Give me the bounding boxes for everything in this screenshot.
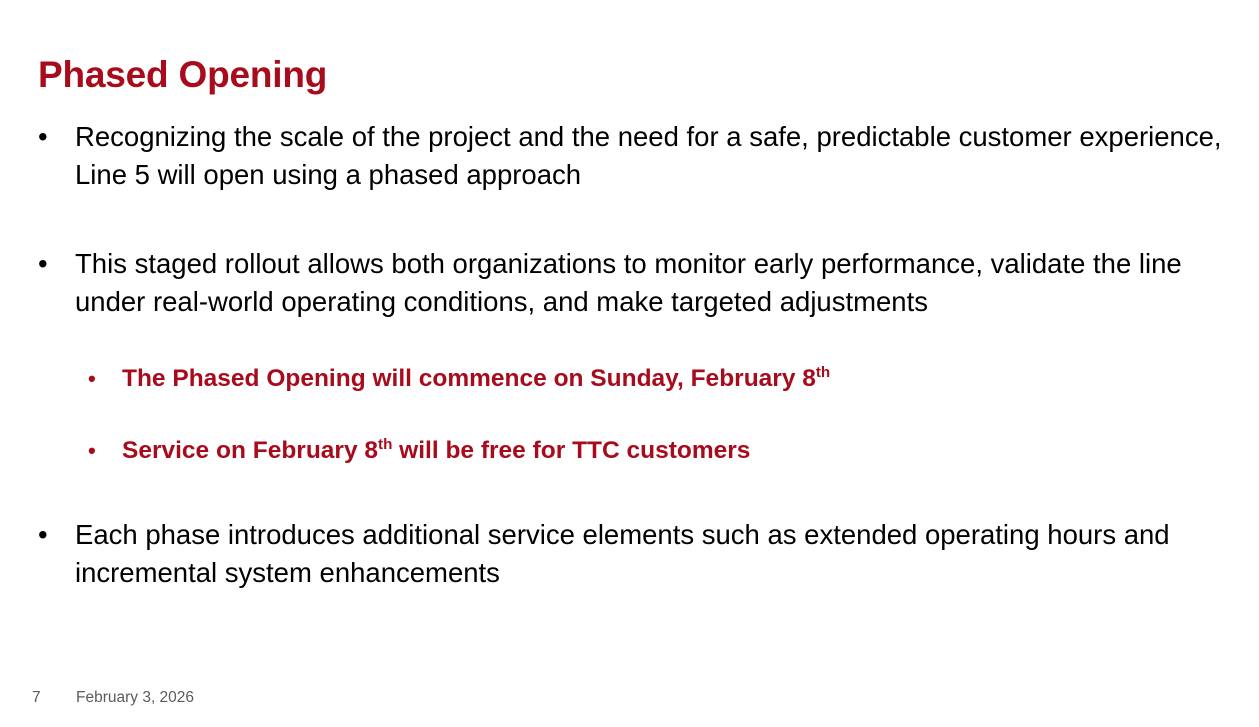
spacer <box>0 468 1259 516</box>
list-item-text-tail: will be free for TTC customers <box>392 437 750 464</box>
list-item-text: Recognizing the scale of the project and… <box>75 121 1222 190</box>
list-item: • This staged rollout allows both organi… <box>0 245 1259 321</box>
bullet-dot-icon: • <box>38 516 48 554</box>
slide-footer: 7 February 3, 2026 <box>0 689 1259 711</box>
footer-date: February 3, 2026 <box>76 689 194 707</box>
spacer <box>0 194 1259 245</box>
spacer <box>0 396 1259 434</box>
bullet-list: • Recognizing the scale of the project a… <box>0 118 1259 592</box>
bullet-dot-icon: • <box>38 118 48 156</box>
bullet-dot-icon: • <box>88 362 96 396</box>
page-number: 7 <box>32 689 41 707</box>
page-title: Phased Opening <box>38 55 327 96</box>
ordinal-suffix: th <box>378 436 392 453</box>
list-item-text: The Phased Opening will commence on Sund… <box>122 365 816 392</box>
spacer <box>0 321 1259 362</box>
list-item: • Each phase introduces additional servi… <box>0 516 1259 592</box>
list-item-text: Service on February 8 <box>122 437 378 464</box>
list-item-highlight: • The Phased Opening will commence on Su… <box>0 362 1259 396</box>
bullet-dot-icon: • <box>38 245 48 283</box>
list-item-text: Each phase introduces additional service… <box>75 519 1170 588</box>
slide: Phased Opening • Recognizing the scale o… <box>0 0 1259 727</box>
bullet-dot-icon: • <box>88 434 96 468</box>
list-item-text: This staged rollout allows both organiza… <box>75 248 1182 317</box>
list-item: • Recognizing the scale of the project a… <box>0 118 1259 194</box>
list-item-highlight: • Service on February 8th will be free f… <box>0 434 1259 468</box>
ordinal-suffix: th <box>816 364 830 381</box>
